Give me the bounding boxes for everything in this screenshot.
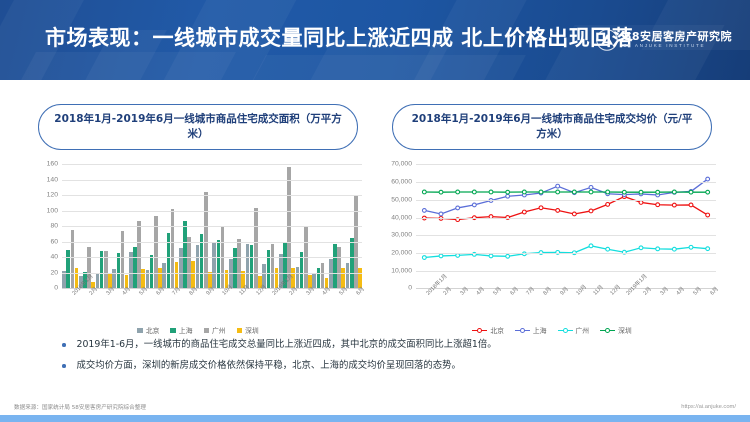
bar (287, 167, 291, 289)
legend-label: 上海 (533, 325, 547, 335)
bar (337, 247, 341, 288)
bar (296, 267, 300, 289)
data-point-marker (656, 203, 660, 207)
data-point-marker (589, 244, 593, 248)
gridline (416, 218, 716, 219)
x-axis-tick: 3月 (295, 289, 312, 319)
bar (233, 248, 237, 288)
data-point-marker (422, 209, 426, 213)
bar (71, 230, 75, 288)
bar (66, 250, 70, 289)
bar-chart-xaxis: 2018年1月2月3月4月5月6月7月8月9月10月11月12月2019年1月2… (62, 289, 362, 319)
data-point-marker (422, 191, 426, 195)
data-point-marker (422, 256, 426, 260)
bar (250, 245, 254, 288)
gridline (62, 164, 362, 165)
y-axis-tick-label: 20 (50, 269, 58, 276)
legend-marker-icon (558, 327, 573, 333)
x-axis-tick: 7月 (516, 289, 533, 319)
data-point-marker (456, 191, 460, 195)
x-axis-tick: 2019年1月 (262, 289, 279, 319)
x-axis-tick: 7月 (162, 289, 179, 319)
y-axis-tick-label: 100 (47, 207, 58, 214)
bar-chart-plot: 020406080100120140160 (62, 164, 362, 289)
x-axis-tick: 9月 (549, 289, 566, 319)
x-axis-tick: 4月 (112, 289, 129, 319)
x-axis-tick: 2月 (79, 289, 96, 319)
data-point-marker (639, 191, 643, 195)
data-point-marker (689, 203, 693, 207)
legend-swatch-icon (170, 328, 176, 334)
x-axis-tick: 2月 (433, 289, 450, 319)
bar (321, 263, 325, 289)
bar (217, 240, 221, 288)
y-axis-tick-label: 60 (50, 238, 58, 245)
bar-chart-legend: 北京上海广州深圳 (28, 325, 368, 335)
y-axis-tick-label: 40 (50, 254, 58, 261)
x-axis-tick: 2018年1月 (62, 289, 79, 319)
data-point-marker (589, 186, 593, 190)
data-point-marker (522, 191, 526, 195)
x-axis-tick: 8月 (533, 289, 550, 319)
data-point-marker (506, 191, 510, 195)
data-point-marker (606, 203, 610, 207)
data-point-marker (539, 206, 543, 210)
bar (267, 250, 271, 289)
data-point-marker (656, 191, 660, 195)
x-axis-tick: 6月 (345, 289, 362, 319)
slide-root: 市场表现：一线城市成交量同比上涨近四成 北上价格出现回落 58安居客房产研究院 … (0, 0, 750, 422)
legend-item[interactable]: 上海 (170, 325, 192, 335)
legend-item[interactable]: 深圳 (600, 325, 632, 335)
data-point-marker (572, 191, 576, 195)
y-axis-tick-label: 0 (54, 285, 58, 292)
x-axis-tick: 9月 (195, 289, 212, 319)
x-axis-tick: 5月 (483, 289, 500, 319)
data-point-marker (456, 218, 460, 222)
data-point-marker (522, 211, 526, 215)
y-axis-tick-label: 50,000 (391, 196, 412, 203)
bar (96, 274, 100, 289)
x-axis-tick: 5月 (129, 289, 146, 319)
legend-label: 广州 (576, 325, 590, 335)
slide-footer: 数据来源：国家统计局 58安居客房产研究院综合整理 https://ai.anj… (0, 403, 750, 411)
legend-marker-icon (600, 327, 615, 333)
x-axis-tick: 4月 (466, 289, 483, 319)
data-point-marker (456, 254, 460, 258)
legend-item[interactable]: 北京 (137, 325, 159, 335)
data-point-marker (589, 191, 593, 195)
line-path (424, 179, 707, 214)
legend-swatch-icon (237, 328, 243, 334)
x-axis-tick: 3月 (449, 289, 466, 319)
legend-marker-icon (515, 327, 530, 333)
data-point-marker (639, 201, 643, 205)
bar (271, 244, 275, 289)
gridline (416, 235, 716, 236)
bar (204, 192, 208, 288)
bar (246, 244, 250, 288)
bar (333, 244, 337, 288)
data-point-marker (439, 254, 443, 258)
bar (150, 255, 154, 288)
bar (196, 245, 200, 288)
data-point-marker (606, 191, 610, 195)
legend-marker-icon (472, 327, 487, 333)
data-point-marker (489, 191, 493, 195)
data-point-marker (622, 191, 626, 195)
x-axis-tick: 5月 (683, 289, 700, 319)
gridline (62, 273, 362, 274)
legend-swatch-icon (137, 328, 143, 334)
x-axis-tick: 6月 (499, 289, 516, 319)
legend-item[interactable]: 广州 (204, 325, 226, 335)
bullet-text: 2019年1-6月，一线城市的商品住宅成交总量同比上涨近四成，其中北京的成交面积… (77, 338, 497, 352)
gridline (62, 211, 362, 212)
x-axis-tick: 4月 (312, 289, 329, 319)
summary-bullets: 2019年1-6月，一线城市的商品住宅成交总量同比上涨近四成，其中北京的成交面积… (62, 338, 712, 380)
bar (254, 208, 258, 289)
gridline (62, 257, 362, 258)
x-axis-tick: 6月 (699, 289, 716, 319)
chart-title-price: 2018年1月-2019年6月一线城市商品住宅成交均价（元/平方米） (392, 104, 712, 150)
legend-item[interactable]: 北京 (472, 325, 504, 335)
bar (133, 247, 137, 289)
data-point-marker (439, 191, 443, 195)
bullet-dot-icon (62, 364, 66, 368)
page-title: 市场表现：一线城市成交量同比上涨近四成 北上价格出现回落 (45, 22, 633, 52)
x-axis-tick: 11月 (583, 289, 600, 319)
data-point-marker (556, 209, 560, 213)
list-item: 成交均价方面，深圳的新房成交价格依然保持平稳，北京、上海的成交均价呈现回落的态势… (62, 359, 712, 373)
gridline (416, 253, 716, 254)
data-point-marker (489, 254, 493, 258)
gridline (416, 182, 716, 183)
bar (350, 238, 354, 288)
x-axis-tick: 3月 (95, 289, 112, 319)
bar (346, 263, 350, 289)
y-axis-tick-label: 30,000 (391, 232, 412, 239)
data-point-marker (672, 191, 676, 195)
triangle-logo-icon (596, 29, 618, 51)
brand-logo: 58安居客房产研究院 58 ANJUKE INSTITUTE (596, 29, 732, 51)
legend-label: 广州 (212, 325, 226, 335)
x-axis-tick: 4月 (666, 289, 683, 319)
legend-label: 北京 (146, 325, 160, 335)
data-point-marker (506, 195, 510, 199)
data-point-marker (706, 178, 710, 182)
chart-title-area: 2018年1月-2019年6月一线城市商品住宅成交面积（万平方米） (38, 104, 358, 150)
chart-panel-area: 2018年1月-2019年6月一线城市商品住宅成交面积（万平方米） 020406… (28, 104, 368, 335)
y-axis-tick-label: 70,000 (391, 161, 412, 168)
list-item: 2019年1-6月，一线城市的商品住宅成交总量同比上涨近四成，其中北京的成交面积… (62, 338, 712, 352)
x-axis-tick: 12月 (599, 289, 616, 319)
gridline (416, 200, 716, 201)
bar (312, 273, 316, 289)
legend-label: 深圳 (245, 325, 259, 335)
y-axis-tick-label: 40,000 (391, 214, 412, 221)
header-facet (4, 52, 236, 80)
bar (137, 221, 141, 288)
legend-item[interactable]: 深圳 (237, 325, 259, 335)
legend-label: 深圳 (618, 325, 632, 335)
legend-swatch-icon (204, 328, 210, 334)
footer-source: 数据来源：国家统计局 58安居客房产研究院综合整理 (14, 403, 146, 411)
gridline (416, 164, 716, 165)
gridline (416, 271, 716, 272)
x-axis-tick: 6月 (145, 289, 162, 319)
gridline (62, 180, 362, 181)
gridline (62, 226, 362, 227)
legend-item[interactable]: 上海 (515, 325, 547, 335)
x-axis-tick: 5月 (329, 289, 346, 319)
x-axis-tick: 2月 (633, 289, 650, 319)
data-point-marker (556, 191, 560, 195)
x-axis-tick: 8月 (179, 289, 196, 319)
bullet-text: 成交均价方面，深圳的新房成交价格依然保持平稳，北京、上海的成交均价呈现回落的态势… (77, 359, 461, 373)
legend-label: 北京 (490, 325, 504, 335)
data-point-marker (639, 246, 643, 250)
slide-header: 市场表现：一线城市成交量同比上涨近四成 北上价格出现回落 58安居客房产研究院 … (0, 0, 750, 80)
bar (212, 242, 216, 289)
bar (317, 268, 321, 289)
data-point-marker (656, 247, 660, 251)
footer-accent-bar (0, 415, 750, 422)
data-point-marker (472, 191, 476, 195)
y-axis-tick-label: 0 (408, 285, 412, 292)
logo-name-en: 58 ANJUKE INSTITUTE (624, 44, 732, 49)
y-axis-tick-label: 20,000 (391, 250, 412, 257)
line-chart-xaxis: 2018年1月2月3月4月5月6月7月8月9月10月11月12月2019年1月2… (416, 289, 716, 319)
data-point-marker (706, 247, 710, 251)
data-point-marker (672, 248, 676, 252)
x-axis-tick: 10月 (566, 289, 583, 319)
legend-label: 上海 (179, 325, 193, 335)
data-point-marker (539, 191, 543, 195)
bar (171, 209, 175, 288)
logo-name-cn: 58安居客房产研究院 (624, 31, 732, 42)
data-point-marker (706, 191, 710, 195)
y-axis-tick-label: 10,000 (391, 267, 412, 274)
gridline (62, 195, 362, 196)
header-facet (234, 55, 526, 80)
y-axis-tick-label: 140 (47, 176, 58, 183)
data-point-marker (506, 255, 510, 259)
bar (121, 231, 125, 288)
x-axis-tick: 2月 (279, 289, 296, 319)
data-point-marker (689, 246, 693, 250)
x-axis-tick: 10月 (212, 289, 229, 319)
y-axis-tick-label: 120 (47, 192, 58, 199)
x-axis-tick: 11月 (229, 289, 246, 319)
data-point-marker (589, 209, 593, 213)
gridline (62, 242, 362, 243)
y-axis-tick-label: 160 (47, 161, 58, 168)
data-point-marker (572, 213, 576, 217)
line-chart-plot: 010,00020,00030,00040,00050,00060,00070,… (416, 164, 716, 289)
y-axis-tick-label: 60,000 (391, 179, 412, 186)
x-axis-tick: 2019年1月 (616, 289, 633, 319)
data-point-marker (672, 204, 676, 208)
x-axis-tick: 12月 (245, 289, 262, 319)
data-point-marker (472, 203, 476, 207)
chart-panel-price: 2018年1月-2019年6月一线城市商品住宅成交均价（元/平方米） 010,0… (382, 104, 722, 335)
bar (237, 239, 241, 289)
data-point-marker (456, 206, 460, 210)
x-axis-tick: 2018年1月 (416, 289, 433, 319)
bar (162, 263, 166, 289)
line-chart-legend: 北京上海广州深圳 (382, 325, 722, 335)
data-point-marker (689, 191, 693, 195)
data-point-marker (606, 248, 610, 252)
data-point-marker (556, 185, 560, 189)
footer-url: https://ai.anjuke.com/ (681, 404, 736, 410)
bar (183, 221, 187, 288)
legend-item[interactable]: 广州 (558, 325, 590, 335)
y-axis-tick-label: 80 (50, 223, 58, 230)
data-point-marker (439, 213, 443, 217)
bar (179, 248, 183, 288)
bullet-dot-icon (62, 343, 66, 347)
x-axis-tick: 3月 (649, 289, 666, 319)
bar (187, 237, 191, 288)
